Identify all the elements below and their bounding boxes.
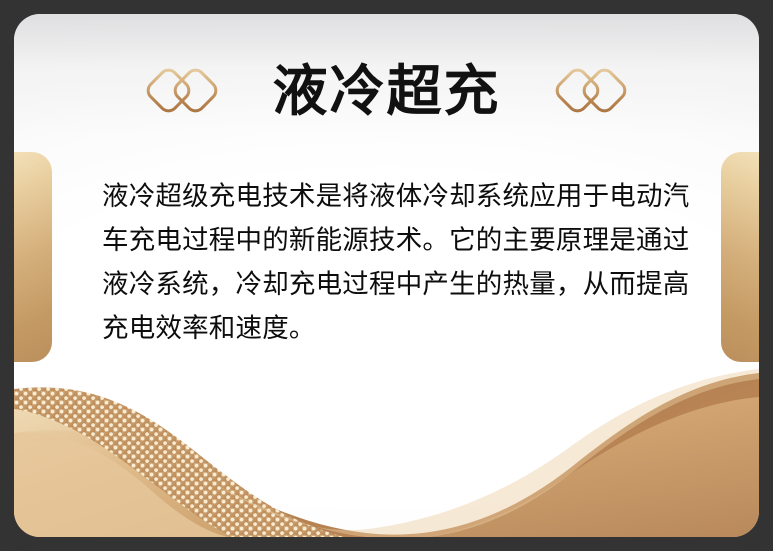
- gold-side-tab-right: [721, 152, 759, 362]
- bottom-wave-decoration: [14, 337, 759, 537]
- slide-canvas: 液冷超充 液冷超级充电技术是将液体冷却系统应: [0, 0, 773, 551]
- interlocking-diamonds-icon-left: [146, 62, 218, 120]
- page-title: 液冷超充: [272, 64, 500, 119]
- gold-side-tab-left: [14, 152, 52, 362]
- body-paragraph: 液冷超级充电技术是将液体冷却系统应用于电动汽车充电过程中的新能源技术。它的主要原…: [102, 174, 696, 350]
- content-card: 液冷超充 液冷超级充电技术是将液体冷却系统应: [14, 14, 759, 537]
- slide-header: 液冷超充: [14, 62, 759, 120]
- interlocking-diamonds-icon-right: [555, 62, 627, 120]
